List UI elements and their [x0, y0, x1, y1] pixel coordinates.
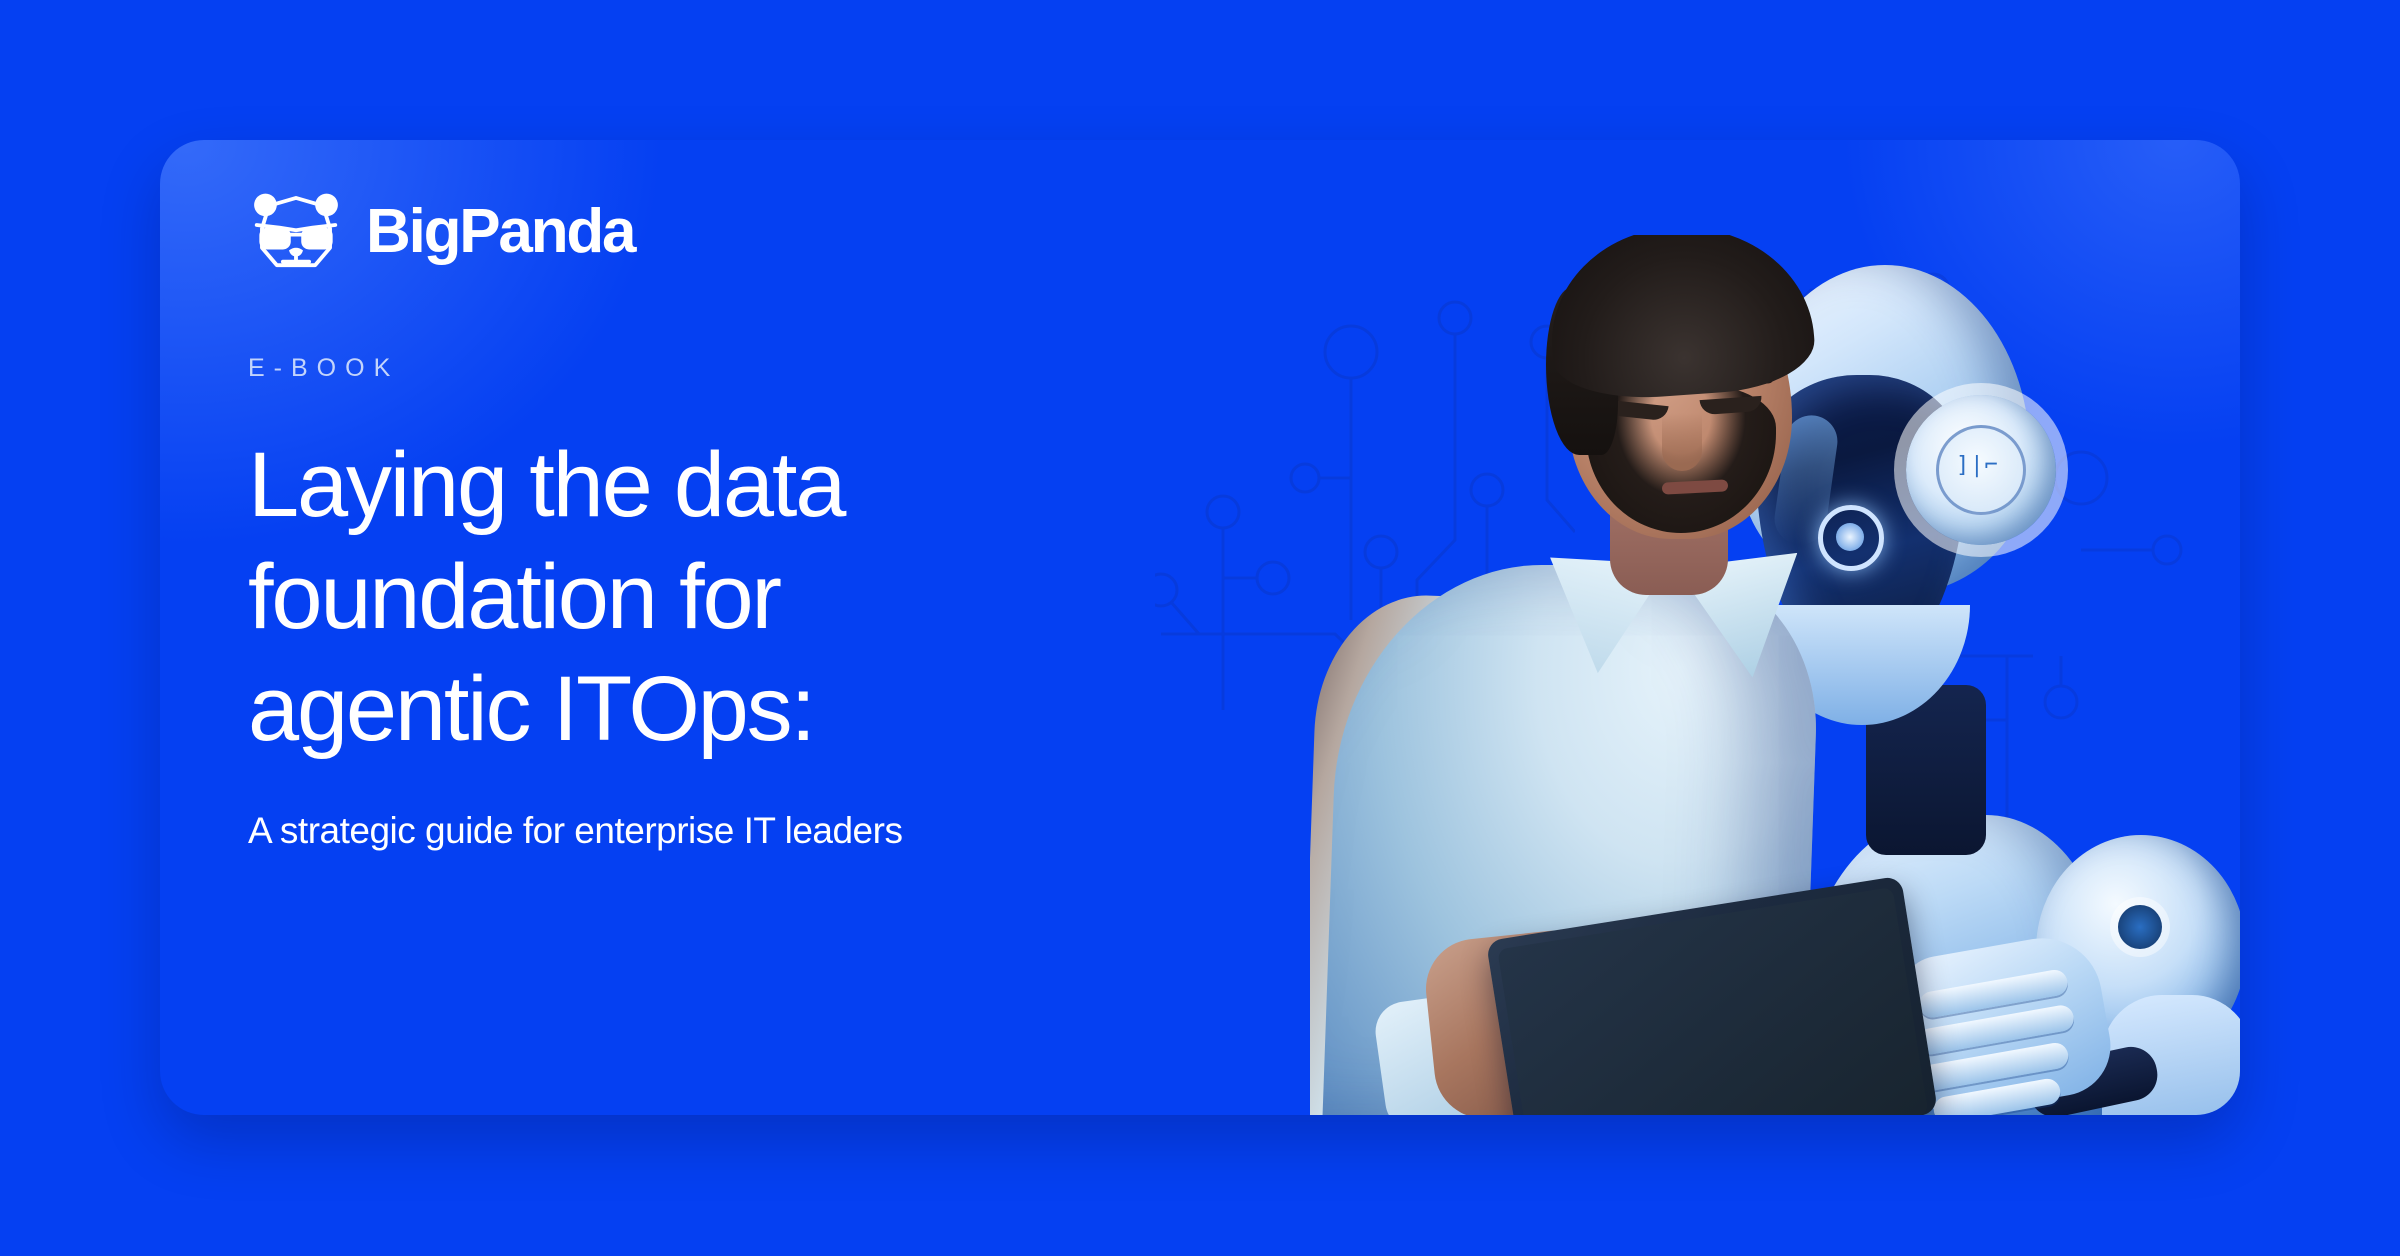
cover-text-column: BigPanda E-BOOK Laying the data foundati… [248, 188, 1168, 854]
cover-artwork: ]|⌐ [1155, 140, 2240, 1115]
headline-line-3: agentic ITOps: [248, 653, 1168, 765]
robot-shoulder-port [2118, 905, 2162, 949]
eyebrow-label: E-BOOK [248, 356, 1168, 381]
cover-photo: ]|⌐ [1310, 235, 2240, 1115]
bigpanda-wordmark: BigPanda [366, 201, 634, 263]
robot-eye-lens [1836, 523, 1864, 551]
headline-line-1: Laying the data [248, 429, 1168, 541]
bigpanda-logo[interactable]: BigPanda [248, 188, 1168, 276]
page-root: ]|⌐ [0, 0, 2400, 1256]
robot-ear-glyph: ]|⌐ [1956, 453, 2008, 483]
page-subtitle: A strategic guide for enterprise IT lead… [248, 808, 1168, 854]
ebook-cover-card: ]|⌐ [160, 140, 2240, 1115]
man-nose [1662, 413, 1702, 471]
page-title: Laying the data foundation for agentic I… [248, 429, 1168, 766]
bigpanda-panda-icon [248, 190, 344, 274]
headline-line-2: foundation for [248, 541, 1168, 653]
